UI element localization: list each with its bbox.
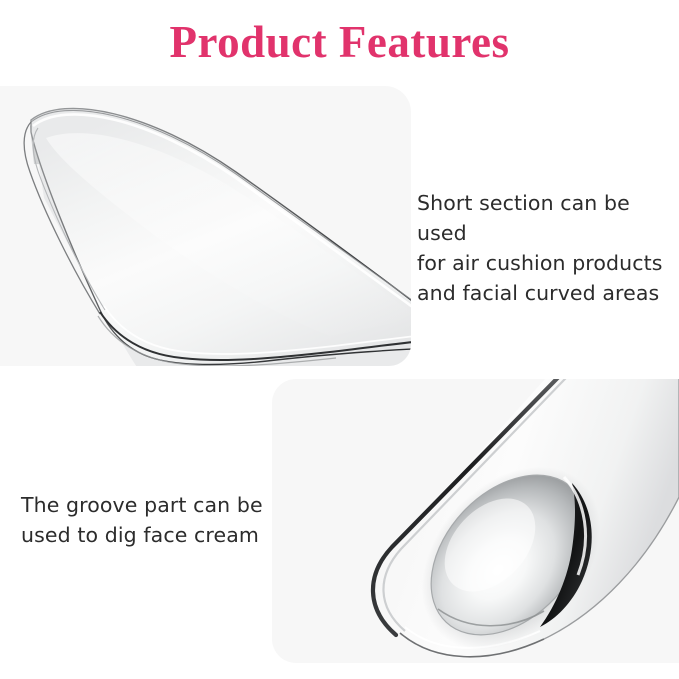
caption-groove-part: The groove part can be used to dig face … — [21, 490, 267, 550]
bottom-product-photo-panel — [272, 379, 679, 663]
caption-short-section: Short section can be used for air cushio… — [417, 188, 673, 308]
spatula-blade-illustration — [0, 86, 411, 366]
top-product-photo-panel — [0, 86, 411, 366]
page-title: Product Features — [0, 16, 679, 68]
product-features-infographic: Product Features — [0, 0, 679, 679]
spatula-groove-illustration — [272, 379, 679, 663]
